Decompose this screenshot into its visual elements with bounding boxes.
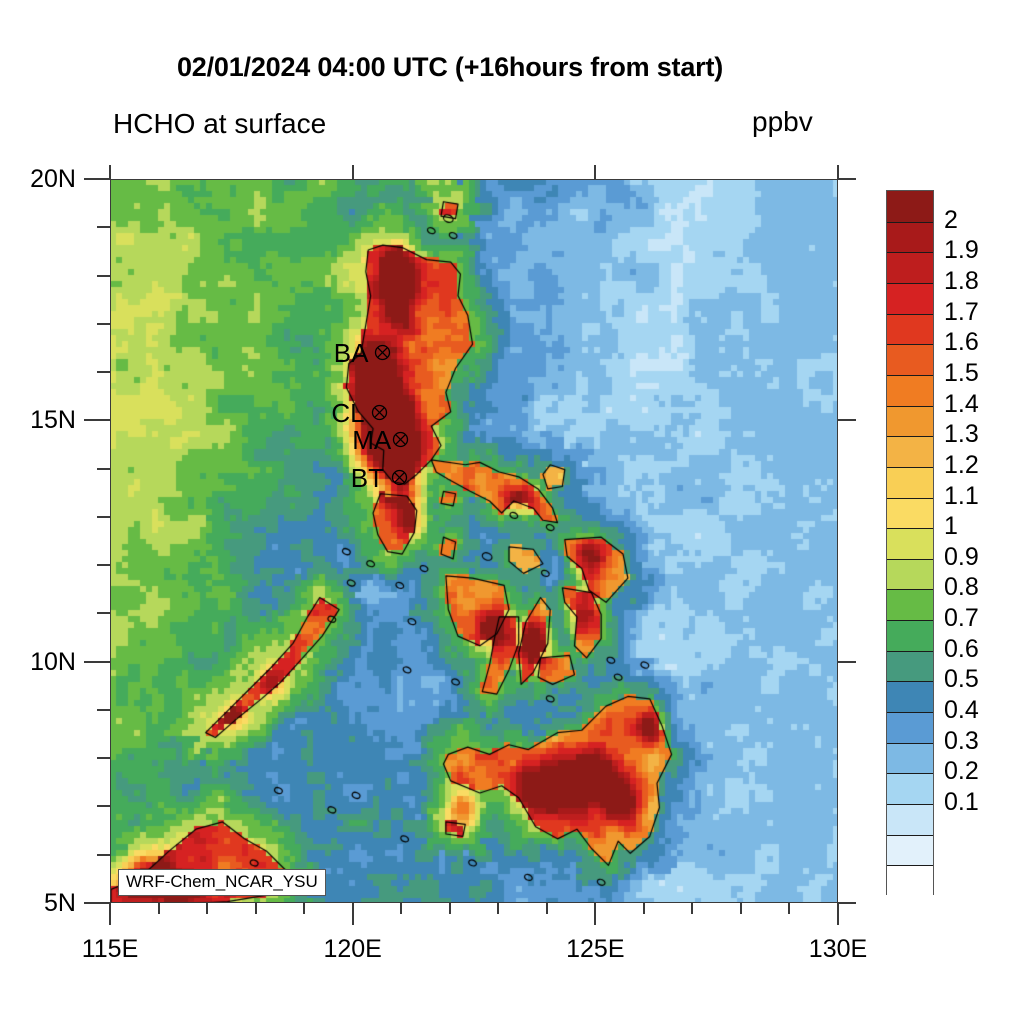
colorbar-band	[887, 467, 933, 498]
unit-label: ppbv	[752, 106, 813, 138]
colorbar-band	[887, 712, 933, 743]
axis-tick	[838, 419, 856, 421]
axis-tick	[594, 903, 596, 925]
colorbar-separator	[887, 773, 933, 774]
colorbar-separator	[887, 252, 933, 253]
axis-tick	[97, 516, 110, 518]
city-label-bt: BT	[351, 465, 384, 491]
axis-tick	[400, 903, 402, 914]
colorbar	[886, 190, 934, 895]
hcho-heatmap-canvas	[111, 180, 838, 903]
axis-tick	[303, 903, 305, 914]
axis-tick	[352, 165, 354, 179]
axis-tick	[97, 709, 110, 711]
axis-tick	[206, 903, 208, 914]
colorbar-tick-label: 2	[944, 206, 958, 235]
axis-tick	[97, 564, 110, 566]
colorbar-separator	[887, 436, 933, 437]
axis-tick	[838, 178, 856, 180]
colorbar-band	[887, 344, 933, 375]
colorbar-tick-label: 0.7	[944, 604, 979, 633]
colorbar-band	[887, 406, 933, 437]
colorbar-separator	[887, 467, 933, 468]
colorbar-separator	[887, 865, 933, 866]
map-plot-area: WRF-Chem_NCAR_YSU	[110, 179, 838, 903]
colorbar-separator	[887, 283, 933, 284]
axis-tick	[546, 903, 548, 914]
axis-tick	[643, 903, 645, 914]
colorbar-tick-label: 0.5	[944, 665, 979, 694]
axis-tick	[837, 165, 839, 179]
colorbar-band	[887, 252, 933, 283]
colorbar-tick-label: 0.3	[944, 727, 979, 756]
circle-x-icon	[391, 469, 408, 486]
axis-tick	[97, 323, 110, 325]
axis-tick	[84, 178, 110, 180]
colorbar-separator	[887, 681, 933, 682]
axis-tick	[97, 371, 110, 373]
colorbar-band	[887, 559, 933, 590]
colorbar-tick-label: 1	[944, 512, 958, 541]
x-axis-tick-label: 120E	[293, 935, 413, 964]
colorbar-tick-label: 0.8	[944, 573, 979, 602]
axis-tick	[837, 903, 839, 925]
colorbar-band	[887, 865, 933, 896]
colorbar-tick-label: 1.6	[944, 328, 979, 357]
city-label-ma: MA	[352, 427, 391, 453]
colorbar-band	[887, 314, 933, 345]
circle-x-icon	[392, 431, 409, 448]
colorbar-tick-label: 1.2	[944, 451, 979, 480]
colorbar-band	[887, 436, 933, 467]
colorbar-separator	[887, 406, 933, 407]
colorbar-band	[887, 743, 933, 774]
colorbar-separator	[887, 743, 933, 744]
axis-tick	[109, 903, 111, 925]
colorbar-band	[887, 681, 933, 712]
colorbar-tick-label: 1.7	[944, 298, 979, 327]
y-axis-tick-label: 10N	[0, 648, 76, 677]
city-label-ba: BA	[334, 340, 369, 366]
axis-tick	[352, 903, 354, 925]
city-label-cl: CL	[331, 400, 364, 426]
x-axis-tick-label: 115E	[50, 935, 170, 964]
colorbar-tick-label: 0.2	[944, 757, 979, 786]
colorbar-separator	[887, 712, 933, 713]
circle-x-icon	[371, 404, 388, 421]
axis-tick	[97, 805, 110, 807]
colorbar-tick-label: 0.6	[944, 635, 979, 664]
colorbar-separator	[887, 528, 933, 529]
axis-tick	[449, 903, 451, 914]
colorbar-band	[887, 620, 933, 651]
colorbar-tick-label: 0.1	[944, 788, 979, 817]
axis-tick	[97, 275, 110, 277]
colorbar-band	[887, 375, 933, 406]
colorbar-tick-label: 1.8	[944, 267, 979, 296]
colorbar-tick-label: 0.9	[944, 543, 979, 572]
colorbar-band	[887, 804, 933, 835]
axis-tick	[84, 661, 110, 663]
colorbar-band	[887, 222, 933, 253]
axis-tick	[97, 612, 110, 614]
colorbar-separator	[887, 804, 933, 805]
colorbar-separator	[887, 375, 933, 376]
colorbar-band	[887, 651, 933, 682]
colorbar-tick-label: 1.1	[944, 482, 979, 511]
axis-tick	[97, 854, 110, 856]
colorbar-tick-label: 1.5	[944, 359, 979, 388]
colorbar-band	[887, 283, 933, 314]
axis-tick	[497, 903, 499, 914]
colorbar-separator	[887, 222, 933, 223]
y-axis-tick-label: 15N	[0, 406, 76, 435]
axis-tick	[158, 903, 160, 914]
axis-tick	[788, 903, 790, 914]
colorbar-separator	[887, 559, 933, 560]
axis-tick	[255, 903, 257, 914]
colorbar-band	[887, 528, 933, 559]
colorbar-tick-label: 1.3	[944, 420, 979, 449]
page-title: 02/01/2024 04:00 UTC (+16hours from star…	[0, 52, 900, 83]
axis-tick	[838, 661, 856, 663]
colorbar-separator	[887, 651, 933, 652]
axis-tick	[97, 226, 110, 228]
colorbar-band	[887, 589, 933, 620]
figure-root: 02/01/2024 04:00 UTC (+16hours from star…	[0, 0, 1024, 1024]
y-axis-tick-label: 5N	[0, 889, 76, 918]
axis-tick	[691, 903, 693, 914]
colorbar-band	[887, 773, 933, 804]
x-axis-tick-label: 130E	[778, 935, 898, 964]
colorbar-separator	[887, 498, 933, 499]
colorbar-separator	[887, 314, 933, 315]
axis-tick	[838, 902, 856, 904]
circle-x-icon	[374, 344, 391, 361]
axis-tick	[594, 165, 596, 179]
colorbar-separator	[887, 589, 933, 590]
y-axis-tick-label: 20N	[0, 165, 76, 194]
colorbar-band	[887, 191, 933, 222]
colorbar-band	[887, 498, 933, 529]
colorbar-separator	[887, 620, 933, 621]
variable-label: HCHO at surface	[113, 108, 326, 140]
axis-tick	[84, 419, 110, 421]
colorbar-tick-label: 1.9	[944, 236, 979, 265]
colorbar-tick-label: 0.4	[944, 696, 979, 725]
axis-tick	[109, 165, 111, 179]
x-axis-tick-label: 125E	[535, 935, 655, 964]
colorbar-band	[887, 835, 933, 866]
axis-tick	[97, 757, 110, 759]
axis-tick	[84, 902, 110, 904]
colorbar-separator	[887, 344, 933, 345]
axis-tick	[97, 468, 110, 470]
colorbar-separator	[887, 835, 933, 836]
axis-tick	[740, 903, 742, 914]
colorbar-tick-label: 1.4	[944, 390, 979, 419]
model-stamp: WRF-Chem_NCAR_YSU	[118, 869, 326, 896]
